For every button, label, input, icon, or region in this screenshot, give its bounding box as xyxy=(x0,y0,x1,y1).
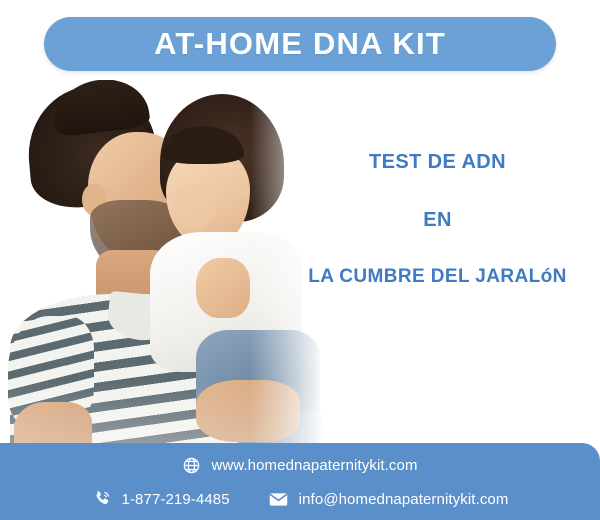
email-label: info@homednapaternitykit.com xyxy=(299,491,509,508)
child-arm xyxy=(196,258,250,318)
website-label: www.homednapaternitykit.com xyxy=(211,457,417,474)
photo-fade-bottom xyxy=(0,380,345,445)
headline-line-2: EN xyxy=(275,208,600,232)
child-cheek xyxy=(172,184,216,228)
website-item[interactable]: www.homednapaternitykit.com xyxy=(182,456,417,475)
globe-icon xyxy=(182,456,201,475)
promo-banner: AT-HOME DNA KIT TEST DE ADN EN LA CUMBRE… xyxy=(0,0,600,520)
phone-icon xyxy=(92,489,112,509)
footer-row-website: www.homednapaternitykit.com xyxy=(0,449,600,481)
phone-label: 1-877-219-4485 xyxy=(122,491,230,508)
footer-contact-bar: www.homednapaternitykit.com 1-877-219-44… xyxy=(0,443,600,520)
footer-row-phone-email: 1-877-219-4485 info@homednapaternitykit.… xyxy=(0,483,600,515)
phone-item[interactable]: 1-877-219-4485 xyxy=(92,489,230,509)
headline-block: TEST DE ADN EN LA CUMBRE DEL JARALóN xyxy=(275,150,600,289)
email-item[interactable]: info@homednapaternitykit.com xyxy=(268,489,509,510)
headline-line-1: TEST DE ADN xyxy=(275,150,600,174)
headline-line-3: LA CUMBRE DEL JARALóN xyxy=(275,266,600,289)
envelope-icon xyxy=(268,489,289,510)
header-banner: AT-HOME DNA KIT xyxy=(44,17,556,71)
page-title: AT-HOME DNA KIT xyxy=(154,26,446,62)
